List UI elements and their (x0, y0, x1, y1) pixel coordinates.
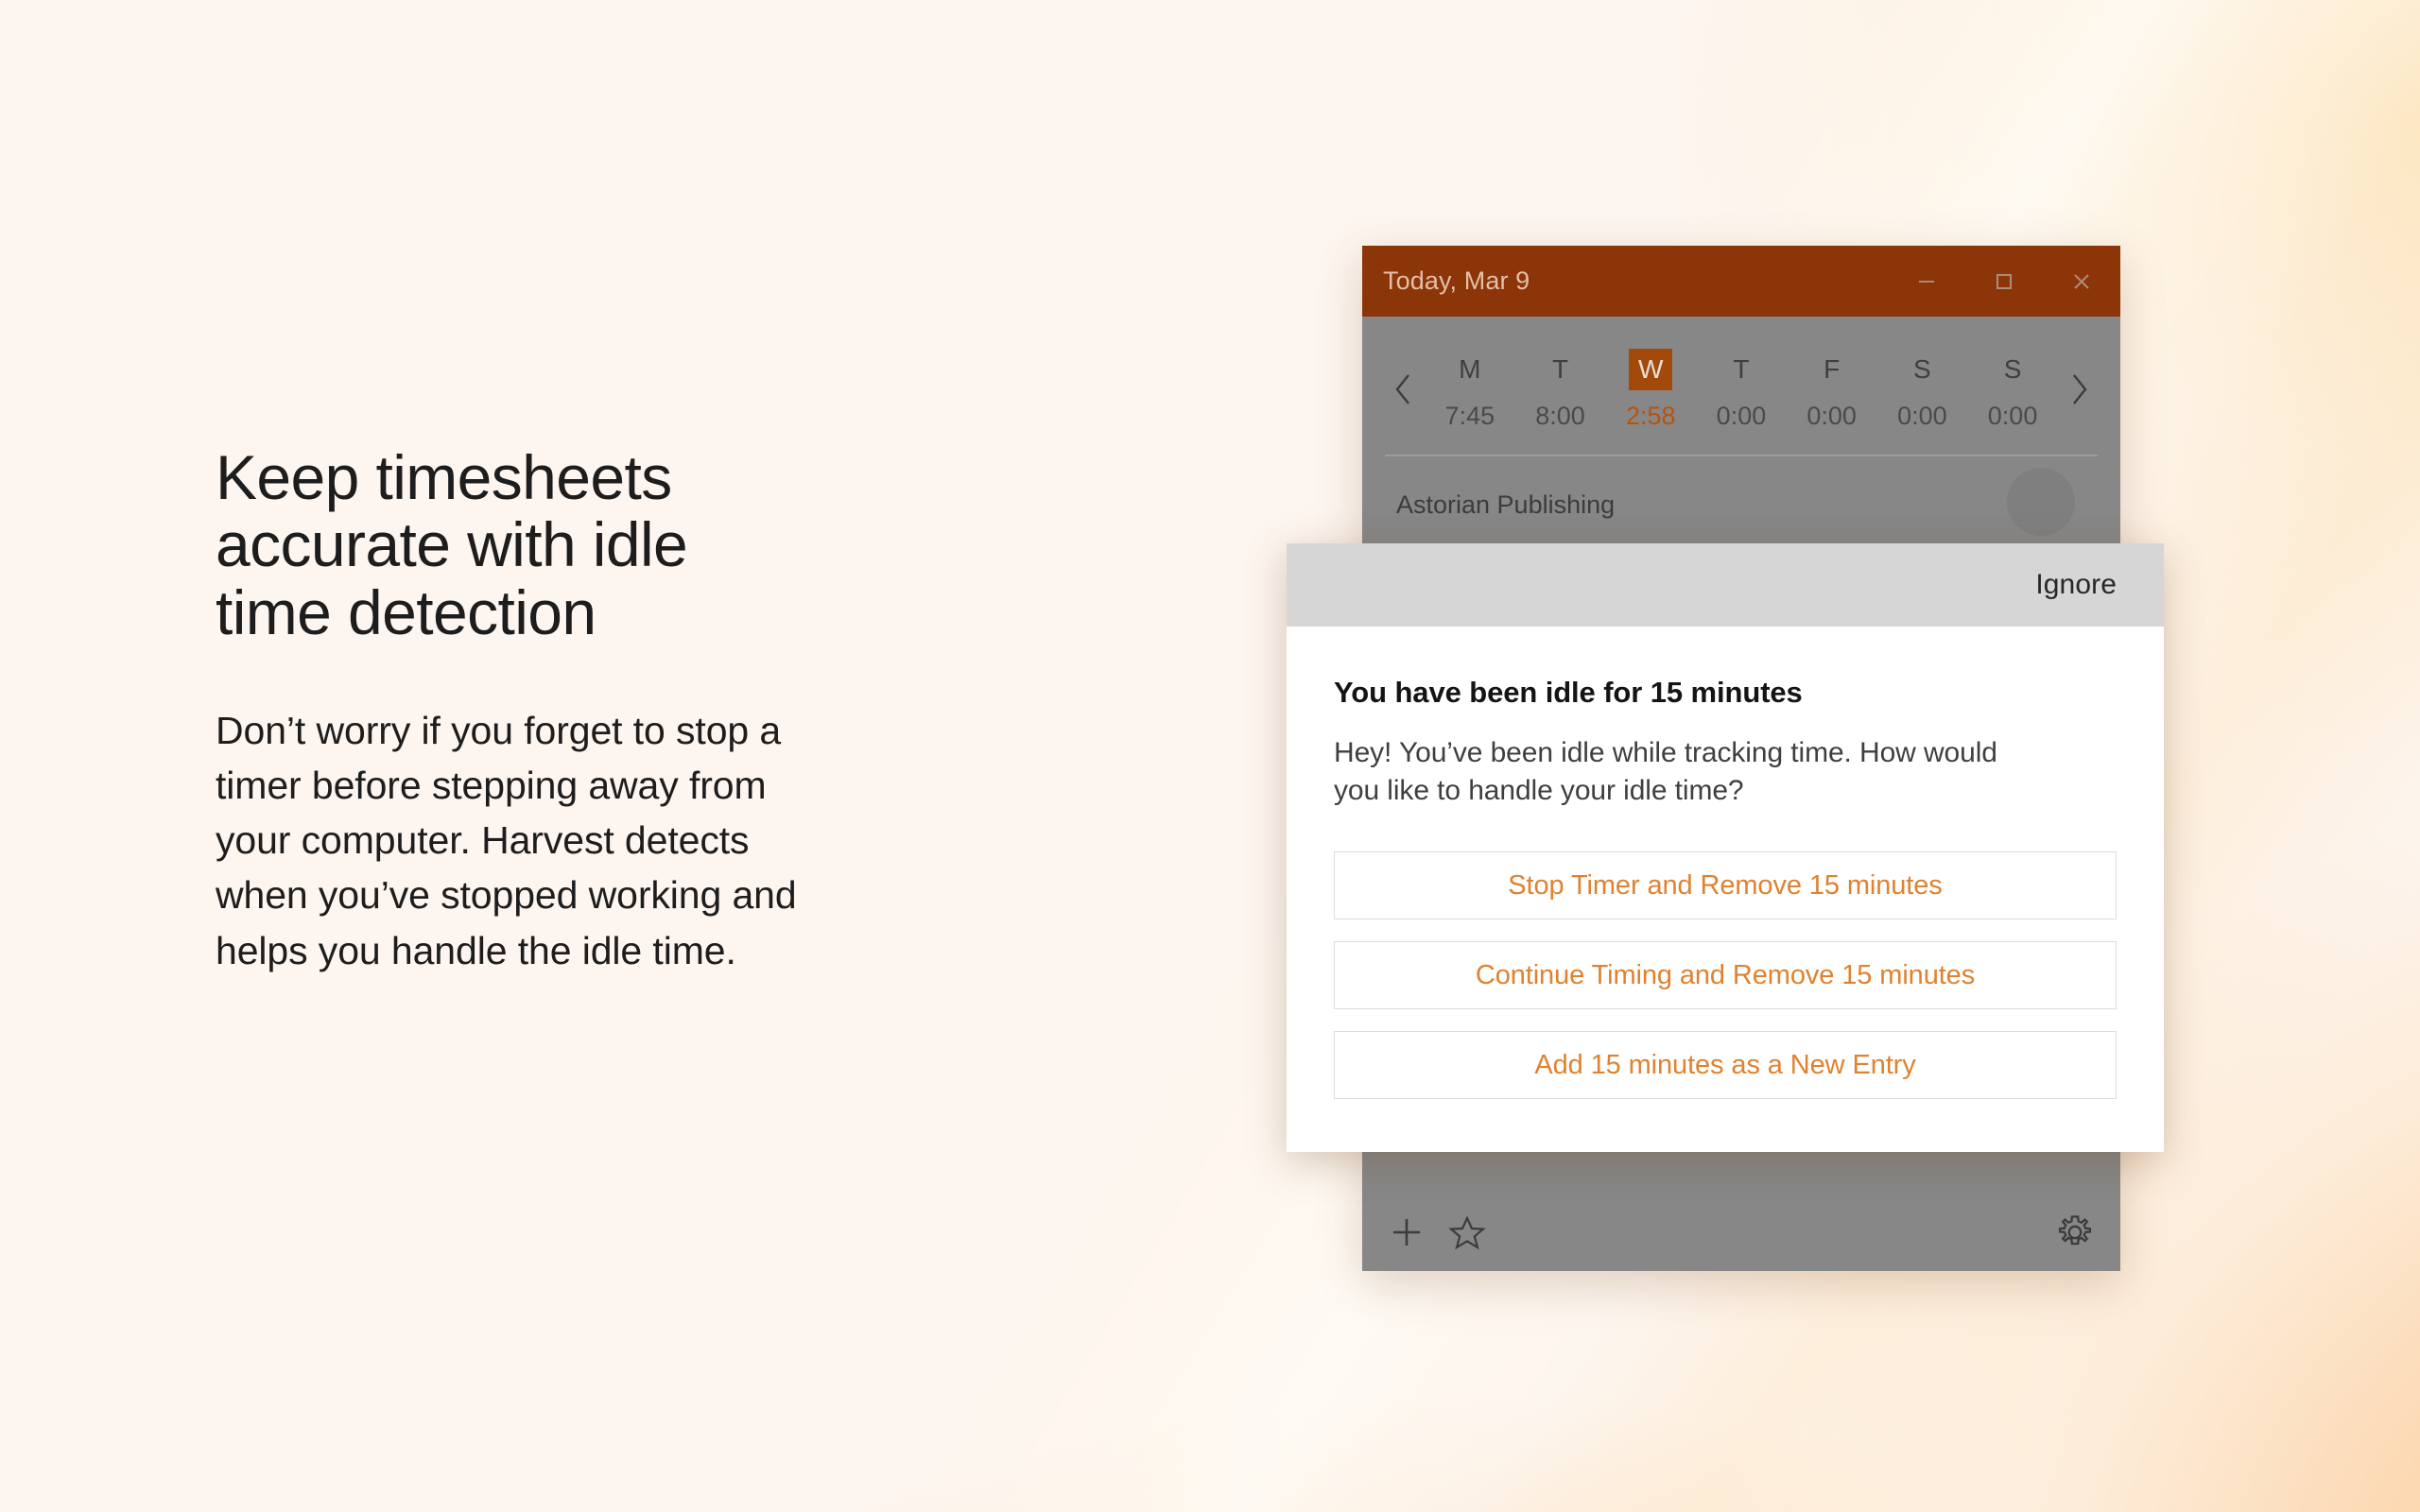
favorites-button[interactable] (1447, 1212, 1487, 1252)
day-hours: 0:00 (1806, 402, 1857, 431)
day-hours: 2:58 (1626, 402, 1676, 431)
dialog-header: Ignore (1287, 543, 2164, 627)
entry-timer-button[interactable] (2007, 468, 2075, 536)
chevron-left-icon (1391, 370, 1416, 408)
page-subtitle: Don’t worry if you forget to stop a time… (216, 703, 1047, 978)
add-entry-button[interactable] (1387, 1212, 1426, 1252)
idle-detection-dialog: Ignore You have been idle for 15 minutes… (1287, 543, 2164, 1152)
dialog-title: You have been idle for 15 minutes (1334, 676, 2117, 710)
week-day-strip: M 7:45 T 8:00 W 2:58 T 0:00 F 0:00 (1362, 317, 2120, 445)
chevron-right-icon (2066, 370, 2091, 408)
day-item-mon[interactable]: M 7:45 (1434, 349, 1506, 431)
star-icon (1447, 1212, 1487, 1252)
day-item-sun[interactable]: S 0:00 (1977, 349, 2048, 431)
dialog-description: Hey! You’ve been idle while tracking tim… (1334, 734, 2117, 810)
day-letter: T (1720, 349, 1763, 390)
dialog-body: You have been idle for 15 minutes Hey! Y… (1287, 627, 2164, 1152)
day-hours: 0:00 (1717, 402, 1767, 431)
minimize-button[interactable] (1888, 246, 1965, 317)
day-letter: S (1991, 349, 2034, 390)
marketing-copy: Keep timesheets accurate with idle time … (216, 444, 1047, 978)
gear-icon (2054, 1211, 2096, 1253)
day-hours: 0:00 (1897, 402, 1947, 431)
day-item-tue[interactable]: T 8:00 (1525, 349, 1597, 431)
continue-timing-remove-button[interactable]: Continue Timing and Remove 15 minutes (1334, 941, 2117, 1009)
day-hours: 0:00 (1988, 402, 2038, 431)
day-letter: F (1810, 349, 1854, 390)
window-controls (1888, 246, 2120, 317)
day-item-sat[interactable]: S 0:00 (1886, 349, 1958, 431)
window-titlebar: Today, Mar 9 (1362, 246, 2120, 317)
dialog-action-list: Stop Timer and Remove 15 minutes Continu… (1334, 851, 2117, 1099)
day-hours: 7:45 (1445, 402, 1495, 431)
close-button[interactable] (2043, 246, 2120, 317)
minimize-icon (1912, 267, 1941, 296)
day-item-fri[interactable]: F 0:00 (1796, 349, 1868, 431)
day-item-thu[interactable]: T 0:00 (1705, 349, 1777, 431)
previous-week-button[interactable] (1383, 370, 1425, 408)
entry-client-name: Astorian Publishing (1396, 490, 1615, 519)
day-hours: 8:00 (1535, 402, 1585, 431)
day-letter: T (1539, 349, 1582, 390)
maximize-button[interactable] (1965, 246, 2043, 317)
day-list: M 7:45 T 8:00 W 2:58 T 0:00 F 0:00 (1425, 349, 2058, 431)
day-item-wed-selected[interactable]: W 2:58 (1615, 349, 1686, 431)
page-title: Keep timesheets accurate with idle time … (216, 444, 1047, 646)
settings-button[interactable] (2054, 1211, 2096, 1253)
window-title: Today, Mar 9 (1383, 266, 1530, 296)
plus-icon (1387, 1212, 1426, 1252)
maximize-icon (1990, 267, 2018, 296)
day-letter: W (1629, 349, 1672, 390)
day-letter: S (1900, 349, 1944, 390)
add-as-new-entry-button[interactable]: Add 15 minutes as a New Entry (1334, 1031, 2117, 1099)
ignore-button[interactable]: Ignore (2035, 569, 2117, 601)
toolbar-left-group (1387, 1212, 1487, 1252)
day-letter: M (1448, 349, 1492, 390)
stop-timer-remove-button[interactable]: Stop Timer and Remove 15 minutes (1334, 851, 2117, 919)
close-icon (2066, 266, 2097, 297)
app-bottom-toolbar (1362, 1194, 2120, 1271)
next-week-button[interactable] (2058, 370, 2100, 408)
